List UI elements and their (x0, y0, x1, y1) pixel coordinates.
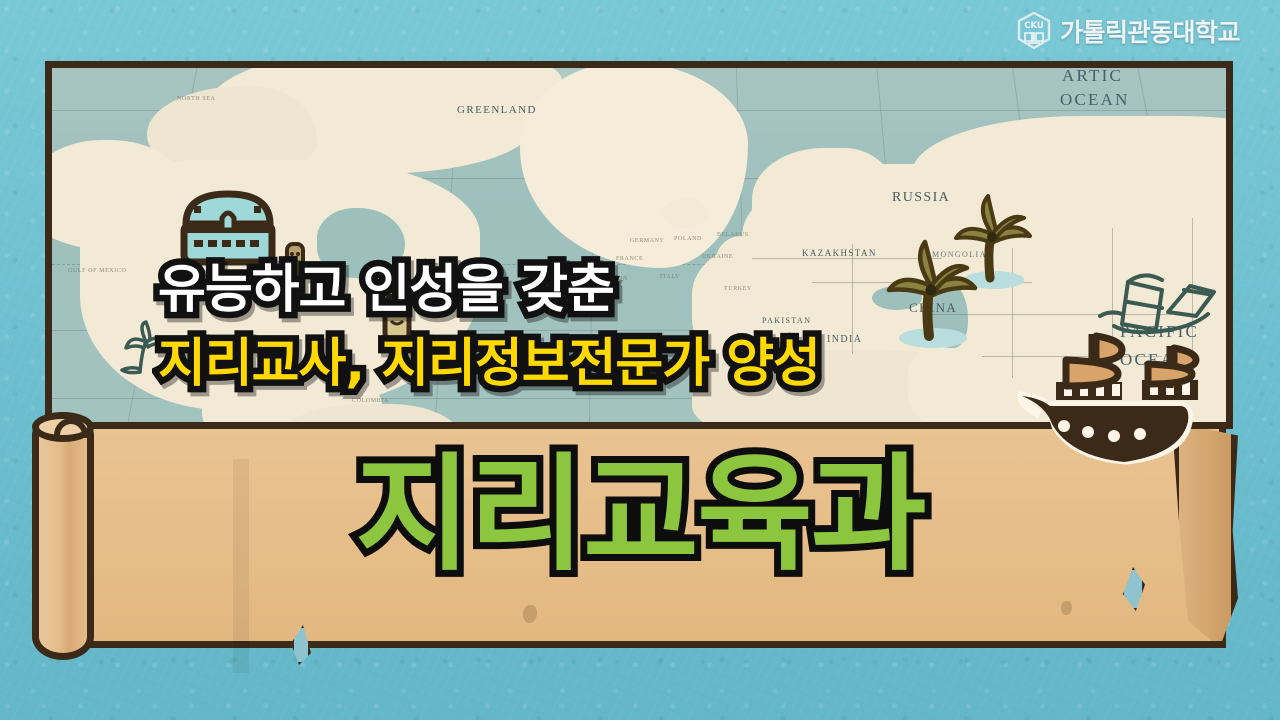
map-label-ukraine: UKRAINE (702, 254, 733, 260)
headline-line-1: 유능하고 인성을 갖춘 (158, 264, 614, 316)
map-label-gulf-of-mexico: GULF OF MEXICO (68, 268, 126, 274)
map-label-greenland: GREENLAND (457, 104, 537, 116)
slide-canvas: ARTIC OCEAN PACIFIC OCEAN GREENLAND RUSS… (0, 0, 1280, 720)
map-label-france: FRANCE (616, 256, 643, 262)
svg-text:CKU: CKU (1024, 21, 1044, 31)
parchment-blot (1061, 601, 1072, 615)
map-label-pakistan: PAKISTAN (762, 316, 811, 325)
landmass-kamchatka (1232, 164, 1233, 260)
map-label-italy: ITALY (660, 274, 680, 280)
university-name: 가톨릭관동대학교 (1060, 13, 1240, 49)
parchment-nick (291, 625, 311, 665)
landmass-iceland (662, 198, 708, 228)
map-label-belarus: BELARUS (717, 232, 749, 238)
map-label-poland: POLAND (674, 236, 702, 242)
map-label-arctic-ocean-line1: ARTIC (1062, 66, 1123, 86)
map-label-north-sea: NORTH SEA (177, 96, 216, 102)
headline-line-2: 지리교사, 지리정보전문가 양성 (158, 338, 820, 390)
pirate-ship-icon (1018, 322, 1218, 475)
map-label-turkey: TURKEY (724, 286, 752, 292)
map-label-india: INDIA (827, 334, 862, 345)
map-label-kazakhstan: KAZAKHSTAN (802, 248, 877, 258)
palm-tree-icon (877, 238, 985, 355)
map-label-arctic-ocean-line2: OCEAN (1060, 90, 1130, 110)
cku-shield-icon: CKU (1017, 12, 1051, 50)
map-label-germany: GERMANY (630, 238, 665, 244)
landmass-alaska (45, 140, 182, 250)
university-logo[interactable]: CKU 가톨릭관동대학교 (1017, 10, 1240, 52)
parchment-blot (523, 605, 537, 623)
